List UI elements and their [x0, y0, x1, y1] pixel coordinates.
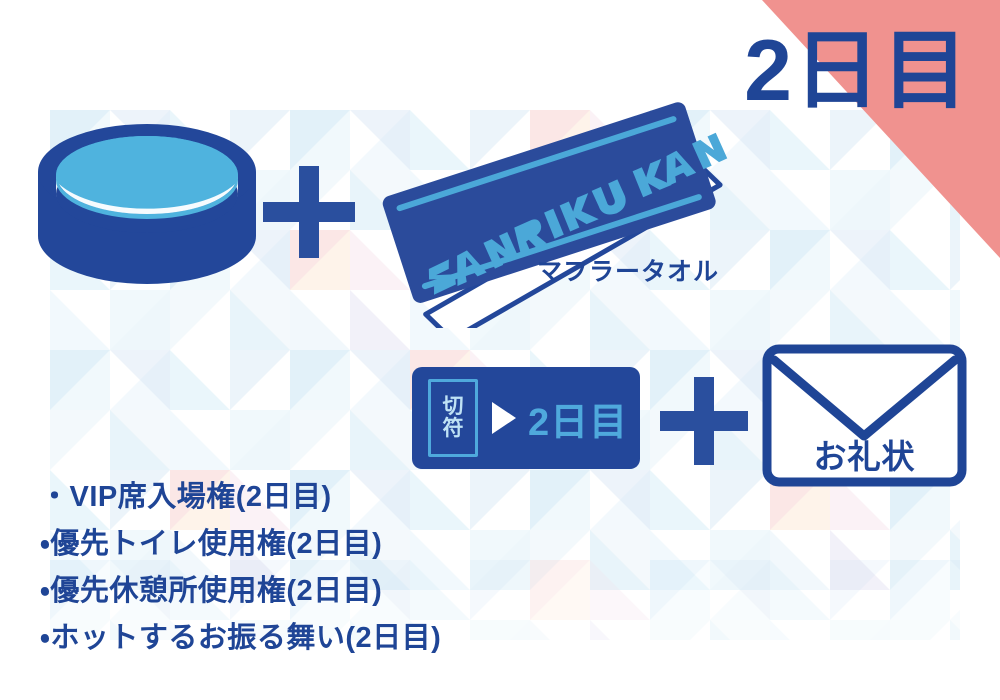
envelope-label: お礼状 — [762, 430, 967, 478]
wristband-icon — [34, 118, 260, 298]
towel-icon — [352, 88, 752, 328]
ticket-stub-char-2: 符 — [443, 418, 464, 440]
ticket-graphic: 切 符 2日目 — [412, 367, 640, 469]
plus-icon-2 — [657, 374, 751, 468]
promo-graphic: 2日目 — [0, 0, 1000, 700]
day-badge-heading: 2日目 — [744, 28, 970, 114]
list-item: ・優先トイレ使用権(2日目) — [40, 521, 441, 568]
plus-icon-1 — [259, 162, 359, 262]
ticket-stub: 切 符 — [428, 379, 478, 457]
towel-label: マフラータオル — [537, 252, 719, 288]
list-item: ・VIP席入場権(2日目) — [40, 474, 441, 521]
play-arrow-icon — [492, 402, 516, 434]
ticket-stub-char-1: 切 — [443, 396, 464, 418]
ticket-day-label: 2日目 — [528, 391, 628, 446]
list-item: ・優先休憩所使用権(2日目) — [40, 568, 441, 615]
perks-list: ・VIP席入場権(2日目) ・優先トイレ使用権(2日目) ・優先休憩所使用権(2… — [40, 474, 441, 662]
list-item: ・ホットするお振る舞い(2日目) — [40, 615, 441, 662]
